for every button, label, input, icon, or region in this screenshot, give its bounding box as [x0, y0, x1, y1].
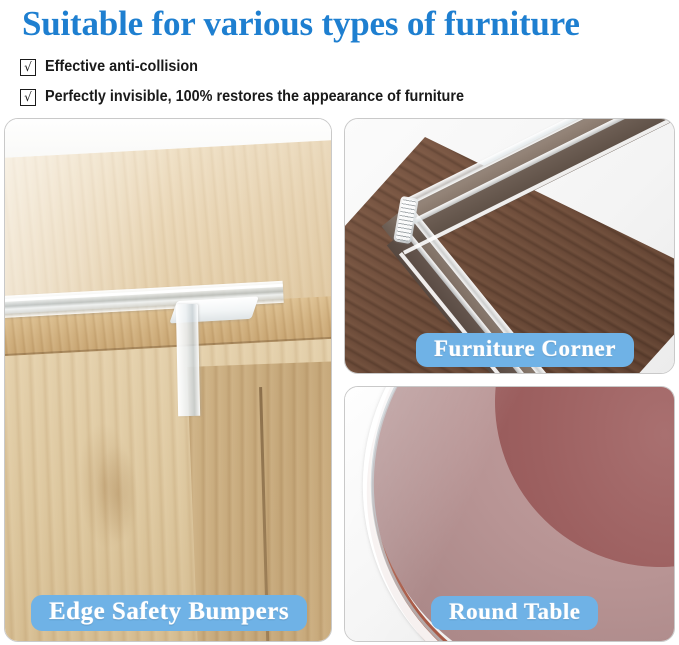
feature-bullet-list: √ Effective anti-collision √ Perfectly i…	[20, 52, 675, 112]
panel-label-round-table: Round Table	[431, 596, 598, 630]
photo-panel-furniture-corner: Furniture Corner	[344, 118, 675, 374]
product-photo-grid: Edge Safety Bumpers	[0, 116, 679, 645]
page-title: Suitable for various types of furniture	[22, 2, 675, 46]
photo-panel-round-table: Round Table	[344, 386, 675, 642]
feature-bullet-2: √ Perfectly invisible, 100% restores the…	[20, 82, 675, 112]
panel-label-furniture-corner: Furniture Corner	[416, 333, 634, 367]
header-section: Suitable for various types of furniture …	[0, 2, 679, 112]
checkmark-icon: √	[20, 89, 36, 106]
clear-bumper-corner-leg	[176, 304, 200, 416]
photo-edge-safety-bumpers	[5, 119, 331, 641]
feature-bullet-2-label: Perfectly invisible, 100% restores the a…	[45, 88, 464, 106]
checkmark-icon: √	[20, 59, 36, 76]
panel-label-edge-safety-bumpers: Edge Safety Bumpers	[31, 595, 307, 631]
feature-bullet-1: √ Effective anti-collision	[20, 52, 675, 82]
feature-bullet-1-label: Effective anti-collision	[45, 58, 198, 76]
photo-panel-edge-safety-bumpers: Edge Safety Bumpers	[4, 118, 332, 642]
